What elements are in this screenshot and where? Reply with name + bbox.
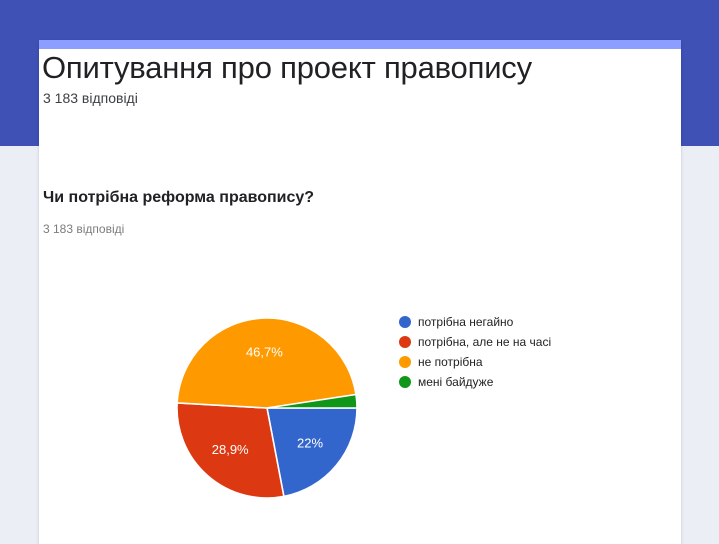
pie-chart[interactable]: 22%28,9%46,7%: [0, 255, 400, 520]
page-title: Опитування про проект правопису: [42, 50, 532, 86]
pie-slice-label: 46,7%: [246, 344, 283, 359]
legend-swatch-icon: [399, 336, 411, 348]
question-title: Чи потрібна реформа правопису?: [43, 189, 314, 207]
pie-chart-svg[interactable]: 22%28,9%46,7%: [0, 255, 400, 520]
chart-legend: потрібна негайно потрібна, але не на час…: [399, 312, 629, 392]
pie-slice-label: 28,9%: [212, 442, 249, 457]
legend-item[interactable]: потрібна негайно: [399, 312, 629, 332]
page-root: Опитування про проект правопису 3 183 ві…: [0, 0, 719, 544]
legend-item[interactable]: мені байдуже: [399, 372, 629, 392]
chart-area: 22%28,9%46,7% потрібна негайно потрібна,…: [0, 255, 642, 520]
legend-item-label: потрібна, але не на часі: [418, 332, 551, 352]
legend-swatch-icon: [399, 356, 411, 368]
card-accent-strip: [39, 40, 681, 49]
legend-item-label: потрібна негайно: [418, 312, 513, 332]
legend-item-label: мені байдуже: [418, 372, 493, 392]
legend-item[interactable]: потрібна, але не на часі: [399, 332, 629, 352]
pie-slice-label: 22%: [297, 436, 323, 451]
legend-swatch-icon: [399, 376, 411, 388]
pie-slice[interactable]: [177, 318, 356, 408]
survey-response-count: 3 183 відповіді: [43, 90, 138, 106]
legend-item[interactable]: не потрібна: [399, 352, 629, 372]
legend-item-label: не потрібна: [418, 352, 483, 372]
legend-swatch-icon: [399, 316, 411, 328]
question-response-count: 3 183 відповіді: [43, 222, 124, 236]
